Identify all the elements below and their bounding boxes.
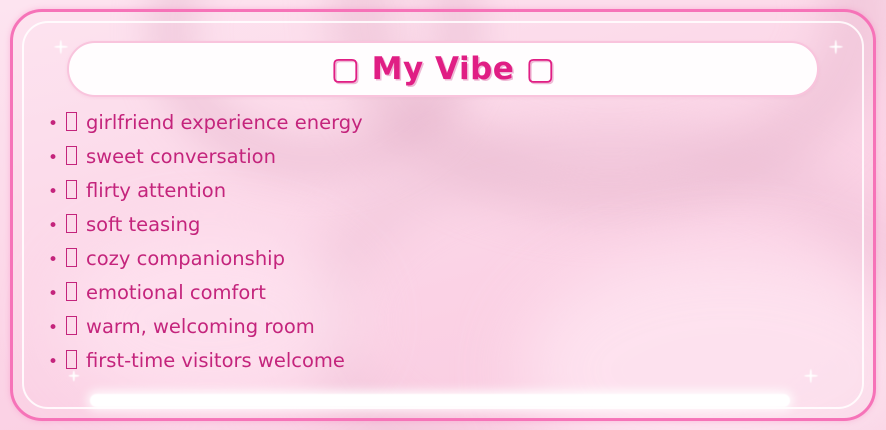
list-item-label: flirty attention xyxy=(86,181,226,201)
vibe-card-stage: ▢ My Vibe ▢ • girlfriend experience ener… xyxy=(0,0,886,430)
bullet-icon: • xyxy=(48,116,66,133)
list-item-label: warm, welcoming room xyxy=(86,317,315,337)
missing-emoji-icon xyxy=(66,350,77,369)
missing-emoji-icon xyxy=(66,282,77,301)
bullet-icon: • xyxy=(48,354,66,371)
list-item-label: sweet conversation xyxy=(86,147,276,167)
list-item: • warm, welcoming room xyxy=(48,314,748,348)
list-item-label: first-time visitors welcome xyxy=(86,351,345,371)
bottom-glow-bar xyxy=(90,394,790,407)
list-item: • flirty attention xyxy=(48,178,748,212)
missing-emoji-icon xyxy=(66,316,77,335)
page-title: ▢ My Vibe ▢ xyxy=(331,54,556,85)
title-pill: ▢ My Vibe ▢ xyxy=(67,41,819,97)
list-item-label: cozy companionship xyxy=(86,249,285,269)
bullet-icon: • xyxy=(48,150,66,167)
list-item: • soft teasing xyxy=(48,212,748,246)
bullet-icon: • xyxy=(48,184,66,201)
missing-emoji-icon xyxy=(66,248,77,267)
list-item: • first-time visitors welcome xyxy=(48,348,748,382)
list-item-label: girlfriend experience energy xyxy=(86,113,363,133)
missing-emoji-icon xyxy=(66,146,77,165)
bullet-icon: • xyxy=(48,218,66,235)
bullet-icon: • xyxy=(48,286,66,303)
list-item: • girlfriend experience energy xyxy=(48,110,748,144)
bullet-icon: • xyxy=(48,252,66,269)
list-item: • cozy companionship xyxy=(48,246,748,280)
list-item-label: soft teasing xyxy=(86,215,200,235)
list-item: • sweet conversation xyxy=(48,144,748,178)
list-item-label: emotional comfort xyxy=(86,283,266,303)
bullet-icon: • xyxy=(48,320,66,337)
list-item: • emotional comfort xyxy=(48,280,748,314)
vibe-list: • girlfriend experience energy • sweet c… xyxy=(48,110,748,382)
missing-emoji-icon xyxy=(66,112,77,131)
missing-emoji-icon xyxy=(66,180,77,199)
missing-emoji-icon xyxy=(66,214,77,233)
